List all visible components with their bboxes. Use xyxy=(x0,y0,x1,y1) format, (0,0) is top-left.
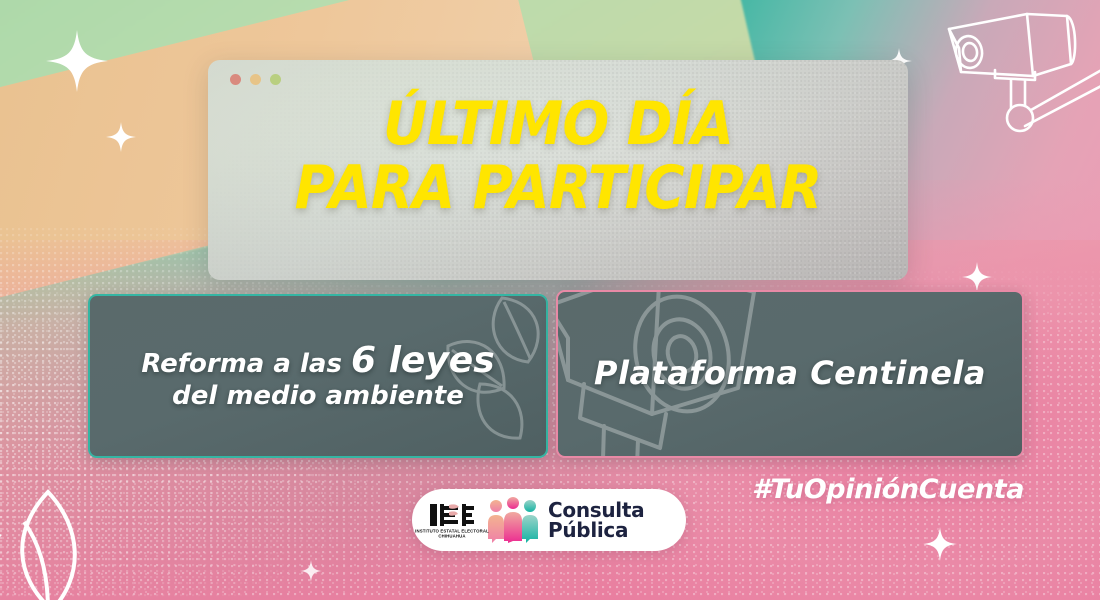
consulta-publica-logo[interactable]: INSTITUTO ESTATAL ELECTORAL CHIHUAHUA xyxy=(412,489,686,551)
maximize-dot[interactable] xyxy=(270,74,281,85)
poster-canvas: ÚLTIMO DÍA PARA PARTICIPAR Reforma a las… xyxy=(0,0,1100,600)
reforma-panel-text: Reforma a las 6 leyes del medio ambiente xyxy=(141,341,494,410)
consulta-publica-wordmark: Consulta Pública xyxy=(548,500,644,541)
hashtag: #TuOpiniónCuenta xyxy=(752,474,1024,505)
sparkle-bottom-right xyxy=(923,527,957,561)
reforma-text-before: Reforma a las xyxy=(141,349,342,379)
window-traffic-lights xyxy=(230,74,281,85)
brand-line-2: Pública xyxy=(548,518,628,542)
reforma-text-highlight: 6 leyes xyxy=(351,340,495,381)
sparkle-mid-right xyxy=(962,262,992,292)
plataforma-panel[interactable]: Plataforma Centinela xyxy=(556,290,1024,458)
reforma-text-after: del medio ambiente xyxy=(172,381,464,411)
minimize-dot[interactable] xyxy=(250,74,261,85)
plataforma-panel-text: Plataforma Centinela xyxy=(594,356,986,392)
close-dot[interactable] xyxy=(230,74,241,85)
sparkle-top-left-large xyxy=(46,30,108,92)
headline-line-2: PARA PARTICIPAR xyxy=(236,160,880,216)
iee-mark-icon xyxy=(429,502,475,528)
headline-line-1: ÚLTIMO DÍA xyxy=(236,96,880,152)
reforma-panel[interactable]: Reforma a las 6 leyes del medio ambiente xyxy=(88,294,548,458)
headline: ÚLTIMO DÍA PARA PARTICIPAR xyxy=(208,96,908,217)
people-group-icon xyxy=(486,497,540,543)
sparkle-top-left-small xyxy=(106,122,136,152)
iee-logo: INSTITUTO ESTATAL ELECTORAL CHIHUAHUA xyxy=(424,502,480,538)
iee-caption-line-2: CHIHUAHUA xyxy=(414,533,490,538)
sparkle-bottom-left xyxy=(300,560,322,582)
